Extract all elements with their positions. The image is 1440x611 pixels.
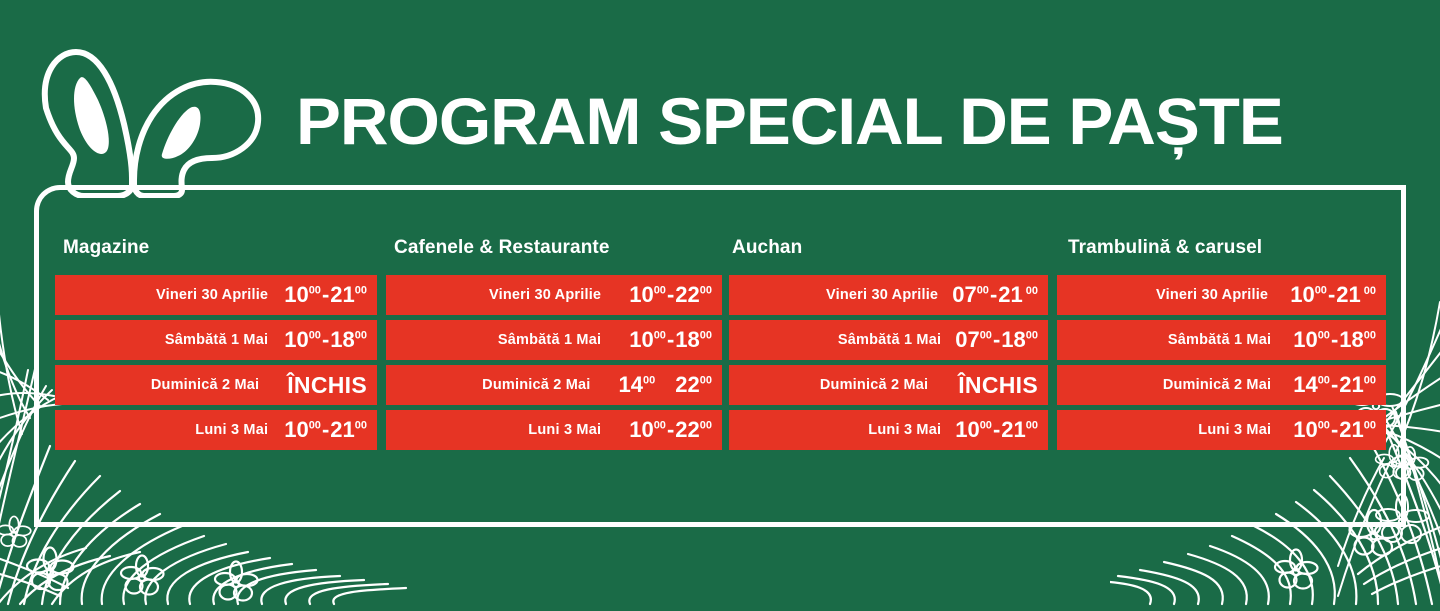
row-day: Sâmbătă 1 Mai (838, 332, 941, 348)
row-hours: 1000-1800 (1293, 327, 1376, 353)
row-day: Duminică 2 Mai (1163, 377, 1271, 393)
row-day: Luni 3 Mai (1198, 422, 1271, 438)
row-hours: 1000-2100 (284, 417, 367, 443)
schedule-column-auchan: Auchan Vineri 30 Aprilie 0700-2100 Sâmbă… (729, 238, 1048, 455)
table-row[interactable]: Duminică 2 Mai ÎNCHIS (55, 365, 377, 405)
table-row[interactable]: Sâmbătă 1 Mai 1000-1800 (55, 320, 377, 360)
schedule-column-trambulina-carusel: Trambulină & carusel Vineri 30 Aprilie 1… (1057, 238, 1386, 455)
table-row[interactable]: Duminică 2 Mai 14002200 (386, 365, 722, 405)
row-hours: 1000-2100 (955, 417, 1038, 443)
table-row[interactable]: Luni 3 Mai 1000-2100 (1057, 410, 1386, 450)
table-row[interactable]: Vineri 30 Aprilie 1000-2100 (1057, 275, 1386, 315)
row-hours: 1400-2100 (1293, 372, 1376, 398)
row-day: Duminică 2 Mai (482, 377, 590, 393)
row-day: Vineri 30 Aprilie (826, 287, 938, 303)
row-day: Vineri 30 Aprilie (156, 287, 268, 303)
table-row[interactable]: Sâmbătă 1 Mai 1000-1800 (1057, 320, 1386, 360)
row-hours: 0700-1800 (955, 327, 1038, 353)
row-hours: 0700-2100 (952, 282, 1038, 308)
row-day: Sâmbătă 1 Mai (165, 332, 268, 348)
column-header: Cafenele & Restaurante (386, 238, 722, 257)
row-hours: 1000-2100 (284, 282, 367, 308)
table-row[interactable]: Vineri 30 Aprilie 1000-2100 (55, 275, 377, 315)
row-hours: 1000-1800 (284, 327, 367, 353)
status-badge-closed: ÎNCHIS (958, 372, 1038, 399)
row-day: Luni 3 Mai (195, 422, 268, 438)
table-row[interactable]: Duminică 2 Mai ÎNCHIS (729, 365, 1048, 405)
table-row[interactable]: Sâmbătă 1 Mai 1000-1800 (386, 320, 722, 360)
row-day: Duminică 2 Mai (820, 377, 928, 393)
schedule-column-magazine: Magazine Vineri 30 Aprilie 1000-2100 Sâm… (55, 238, 377, 455)
row-hours: 1000-2100 (1290, 282, 1376, 308)
table-row[interactable]: Vineri 30 Aprilie 1000-2200 (386, 275, 722, 315)
table-row[interactable]: Duminică 2 Mai 1400-2100 (1057, 365, 1386, 405)
schedule-grid: Magazine Vineri 30 Aprilie 1000-2100 Sâm… (0, 0, 1440, 600)
column-header: Trambulină & carusel (1057, 238, 1386, 257)
row-day: Sâmbătă 1 Mai (498, 332, 601, 348)
table-row[interactable]: Luni 3 Mai 1000-2200 (386, 410, 722, 450)
schedule-column-cafenele-restaurante: Cafenele & Restaurante Vineri 30 Aprilie… (386, 238, 722, 455)
row-day: Vineri 30 Aprilie (1156, 287, 1268, 303)
status-badge-closed: ÎNCHIS (287, 372, 367, 399)
row-day: Vineri 30 Aprilie (489, 287, 601, 303)
table-row[interactable]: Luni 3 Mai 1000-2100 (55, 410, 377, 450)
table-row[interactable]: Sâmbătă 1 Mai 0700-1800 (729, 320, 1048, 360)
row-hours: 1000-2200 (629, 417, 712, 443)
row-day: Sâmbătă 1 Mai (1168, 332, 1271, 348)
table-row[interactable]: Luni 3 Mai 1000-2100 (729, 410, 1048, 450)
column-header: Magazine (55, 238, 377, 257)
row-day: Luni 3 Mai (528, 422, 601, 438)
row-hours: 1000-2200 (629, 282, 712, 308)
table-row[interactable]: Vineri 30 Aprilie 0700-2100 (729, 275, 1048, 315)
row-day: Duminică 2 Mai (151, 377, 259, 393)
row-hours: 1000-1800 (629, 327, 712, 353)
row-hours: 14002200 (619, 372, 712, 398)
row-day: Luni 3 Mai (868, 422, 941, 438)
row-hours: 1000-2100 (1293, 417, 1376, 443)
column-header: Auchan (729, 238, 1048, 257)
